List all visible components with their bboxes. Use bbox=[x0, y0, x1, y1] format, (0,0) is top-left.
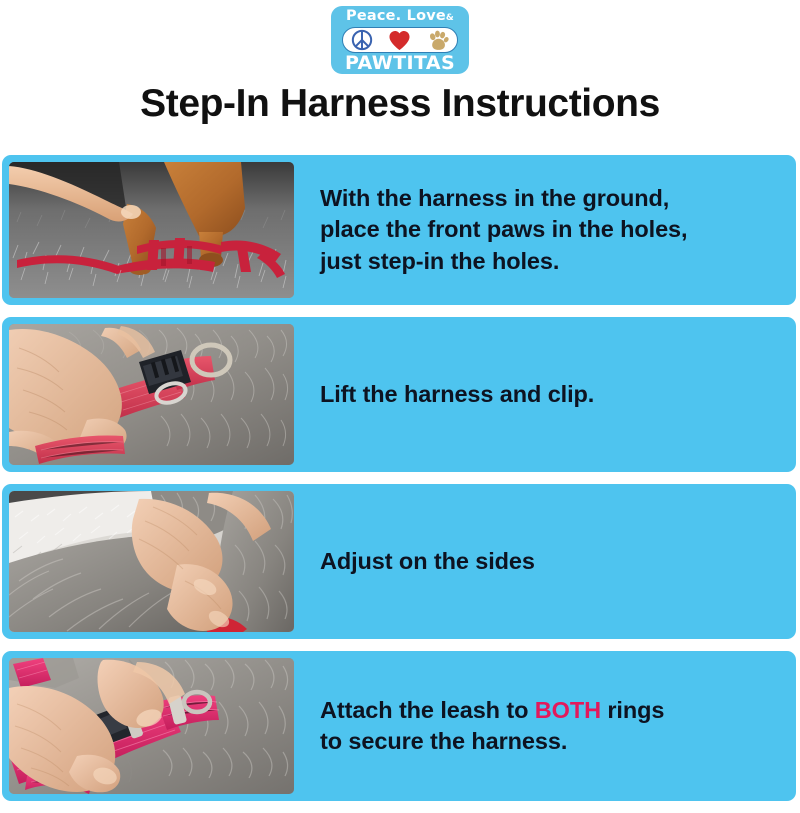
step-2-line-1: Lift the harness and clip. bbox=[320, 379, 775, 410]
brand-logo: Peace. Love& bbox=[331, 6, 469, 74]
step-2-photo bbox=[9, 324, 294, 465]
paw-print-icon bbox=[427, 30, 449, 51]
step-4-emphasis: BOTH bbox=[535, 697, 601, 723]
step-4-text-after: rings bbox=[601, 697, 664, 723]
heart-icon bbox=[388, 30, 411, 51]
step-4-photo bbox=[9, 658, 294, 794]
peace-sign-icon bbox=[351, 29, 373, 51]
step-3-text: Adjust on the sides bbox=[294, 546, 789, 577]
step-4-line-1: Attach the leash to BOTH rings bbox=[320, 695, 775, 726]
instruction-steps-list: With the harness in the ground, place th… bbox=[0, 155, 800, 813]
step-2-text: Lift the harness and clip. bbox=[294, 379, 789, 410]
instruction-step-4: Attach the leash to BOTH rings to secure… bbox=[2, 651, 796, 801]
instruction-step-1: With the harness in the ground, place th… bbox=[2, 155, 796, 305]
step-4-text-before: Attach the leash to bbox=[320, 697, 535, 723]
step-1-text: With the harness in the ground, place th… bbox=[294, 183, 789, 277]
step-4-line-2: to secure the harness. bbox=[320, 726, 775, 757]
page-header: Peace. Love& bbox=[0, 0, 800, 126]
step-1-photo bbox=[9, 162, 294, 298]
logo-brandname: PAWTITAS bbox=[345, 53, 455, 73]
logo-tagline-text: Peace. Love bbox=[346, 8, 446, 24]
step-3-photo bbox=[9, 491, 294, 632]
instruction-step-2: Lift the harness and clip. bbox=[2, 317, 796, 472]
logo-ampersand: & bbox=[446, 13, 454, 23]
step-1-line-1: With the harness in the ground, bbox=[320, 183, 775, 214]
step-1-line-3: just step-in the holes. bbox=[320, 246, 775, 277]
step-1-line-2: place the front paws in the holes, bbox=[320, 214, 775, 245]
step-4-text: Attach the leash to BOTH rings to secure… bbox=[294, 695, 789, 758]
logo-icon-pill bbox=[342, 27, 458, 53]
instruction-step-3: Adjust on the sides bbox=[2, 484, 796, 639]
page-title: Step-In Harness Instructions bbox=[140, 82, 660, 126]
step-3-line-1: Adjust on the sides bbox=[320, 546, 775, 577]
logo-tagline: Peace. Love& bbox=[346, 9, 454, 26]
